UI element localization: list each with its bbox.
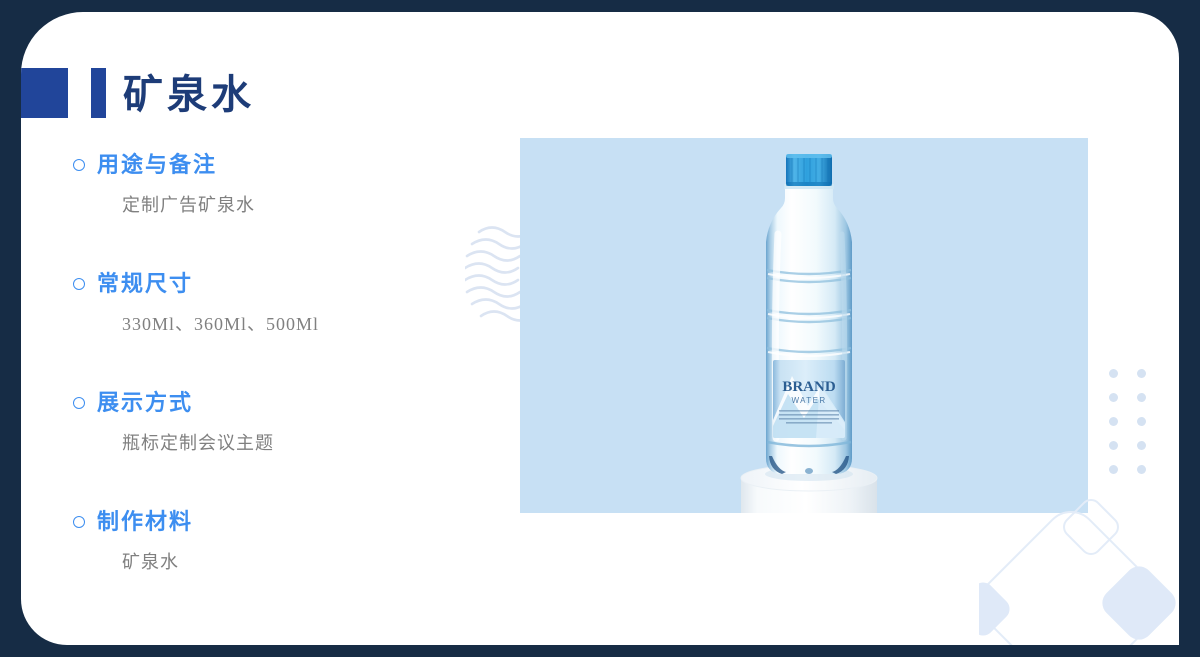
dot <box>1109 441 1118 450</box>
spec-description: 330Ml、360Ml、500Ml <box>122 311 493 337</box>
spec-title: 用途与备注 <box>97 150 217 180</box>
slide-card: BRAND WATER <box>21 12 1179 645</box>
list-item: 展示方式 瓶标定制会议主题 <box>73 388 493 507</box>
dot <box>1137 417 1146 426</box>
dot <box>1137 465 1146 474</box>
product-image-panel: BRAND WATER <box>520 138 1088 513</box>
dot <box>1137 393 1146 402</box>
dot <box>1137 369 1146 378</box>
dot <box>1109 393 1118 402</box>
circle-bullet-icon <box>73 278 85 290</box>
circle-bullet-icon <box>73 516 85 528</box>
circle-bullet-icon <box>73 397 85 409</box>
spec-title: 展示方式 <box>97 388 193 418</box>
bottle-brand-text: BRAND <box>782 379 836 395</box>
slide-root: BRAND WATER <box>0 0 1200 657</box>
spec-heading-row: 常规尺寸 <box>73 269 493 299</box>
list-item: 常规尺寸 330Ml、360Ml、500Ml <box>73 269 493 388</box>
spec-title: 常规尺寸 <box>97 269 193 299</box>
spec-heading-row: 展示方式 <box>73 388 493 418</box>
list-item: 制作材料 矿泉水 <box>73 507 493 626</box>
circle-bullet-icon <box>73 159 85 171</box>
spec-title: 制作材料 <box>97 507 193 537</box>
spec-list: 用途与备注 定制广告矿泉水 常规尺寸 330Ml、360Ml、500Ml 展示方… <box>73 150 493 626</box>
dot <box>1109 465 1118 474</box>
page-title: 矿泉水 <box>123 66 255 124</box>
spec-description: 矿泉水 <box>122 549 493 575</box>
dot <box>1137 441 1146 450</box>
spec-description: 定制广告矿泉水 <box>122 192 493 218</box>
dot <box>1109 369 1118 378</box>
list-item: 用途与备注 定制广告矿泉水 <box>73 150 493 269</box>
spec-heading-row: 用途与备注 <box>73 150 493 180</box>
title-accent-square-large <box>21 68 68 118</box>
bottle-sub-text: WATER <box>792 396 827 405</box>
title-accent-bar-small <box>91 68 106 118</box>
dot <box>1109 417 1118 426</box>
spec-heading-row: 制作材料 <box>73 507 493 537</box>
spec-description: 瓶标定制会议主题 <box>122 430 493 456</box>
diamond-decoration-icon <box>979 485 1179 645</box>
bottle-photo: BRAND WATER <box>520 138 1088 513</box>
dot-grid-decoration <box>1109 369 1165 489</box>
